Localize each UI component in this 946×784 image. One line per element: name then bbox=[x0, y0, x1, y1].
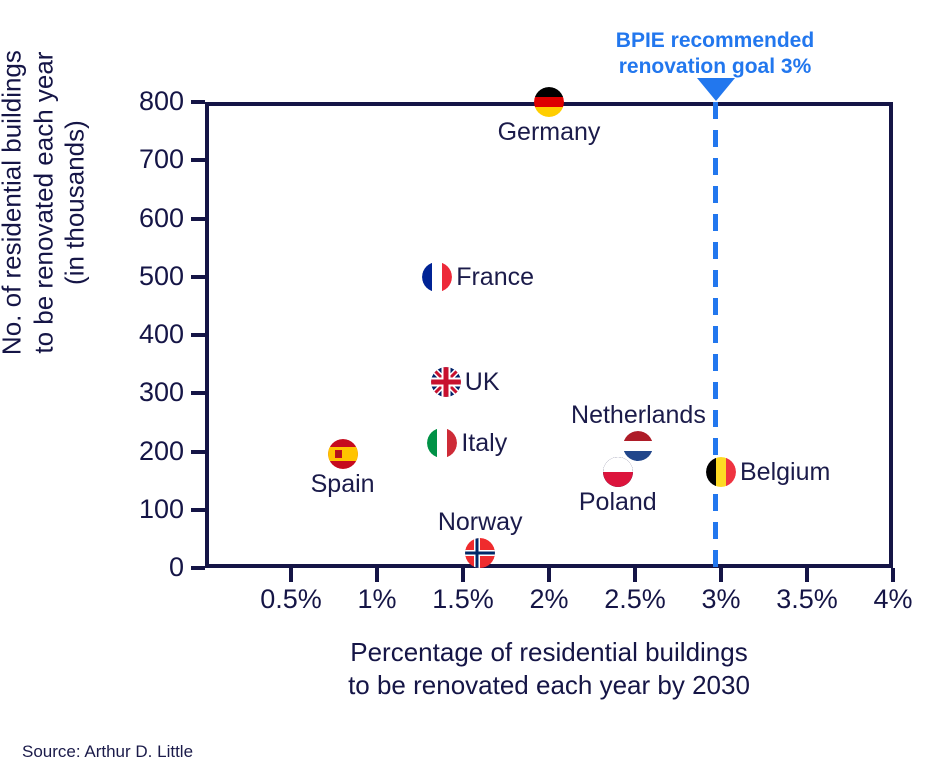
y-axis-tick-label: 800 bbox=[139, 88, 184, 115]
flag-nl-icon bbox=[623, 431, 653, 461]
down-triangle-icon bbox=[697, 78, 735, 101]
bpie-annotation-line2: renovation goal 3% bbox=[560, 54, 870, 80]
data-point-label: Norway bbox=[438, 510, 523, 535]
flag-fr-icon bbox=[422, 262, 452, 292]
flag-de-icon bbox=[534, 87, 564, 117]
x-axis-tick bbox=[891, 568, 895, 582]
y-axis-tick-label: 0 bbox=[169, 554, 184, 581]
y-axis-tick-label: 100 bbox=[139, 496, 184, 523]
x-axis-title-line2: to be renovated each year by 2030 bbox=[205, 669, 893, 702]
y-axis-title: No. of residential buildings to be renov… bbox=[0, 0, 92, 413]
y-axis-tick bbox=[191, 391, 205, 395]
y-axis-tick-label: 600 bbox=[139, 205, 184, 232]
data-point-label: Netherlands bbox=[571, 403, 706, 428]
plot-area bbox=[205, 102, 893, 568]
flag-pl-icon bbox=[603, 457, 633, 487]
data-point-label: Belgium bbox=[740, 460, 830, 485]
y-axis-tick-label: 400 bbox=[139, 321, 184, 348]
data-point-label: Italy bbox=[461, 431, 507, 456]
y-axis-tick bbox=[191, 450, 205, 454]
bpie-goal-annotation: BPIE recommended renovation goal 3% bbox=[560, 28, 870, 81]
y-axis-tick bbox=[191, 100, 205, 104]
x-axis-tick bbox=[289, 568, 293, 582]
scatter-chart-figure: 8007006005004003002001000 0.5%1%1.5%2%2.… bbox=[0, 0, 946, 784]
data-point-label: Germany bbox=[498, 120, 601, 145]
data-point-label: UK bbox=[465, 370, 500, 395]
y-axis-tick-label: 700 bbox=[139, 146, 184, 173]
y-axis-title-line2: to be renovated each year bbox=[28, 0, 60, 413]
flag-gb-icon bbox=[431, 367, 461, 397]
y-axis-tick-label: 300 bbox=[139, 379, 184, 406]
y-axis-tick bbox=[191, 566, 205, 570]
x-axis-title-line1: Percentage of residential buildings bbox=[205, 636, 893, 669]
y-axis-tick-label: 500 bbox=[139, 263, 184, 290]
y-axis-title-line1: No. of residential buildings bbox=[0, 0, 28, 413]
x-axis-tick bbox=[375, 568, 379, 582]
data-point-label: France bbox=[456, 265, 534, 290]
y-axis-title-line3: (in thousands) bbox=[60, 0, 92, 413]
flag-es-icon bbox=[328, 439, 358, 469]
x-axis-tick bbox=[547, 568, 551, 582]
data-point-label: Spain bbox=[311, 472, 375, 497]
x-axis-tick-label: 4% bbox=[833, 586, 946, 613]
y-axis-tick bbox=[191, 217, 205, 221]
x-axis-tick bbox=[805, 568, 809, 582]
x-axis-tick bbox=[719, 568, 723, 582]
x-axis-tick bbox=[461, 568, 465, 582]
y-axis-tick bbox=[191, 508, 205, 512]
data-point-label: Poland bbox=[579, 490, 657, 515]
flag-be-icon bbox=[706, 457, 736, 487]
x-axis-tick bbox=[633, 568, 637, 582]
y-axis-tick bbox=[191, 333, 205, 337]
y-axis-tick-label: 200 bbox=[139, 438, 184, 465]
x-axis-title: Percentage of residential buildings to b… bbox=[205, 636, 893, 701]
flag-it-icon bbox=[427, 428, 457, 458]
goal-threshold-line bbox=[713, 102, 718, 572]
y-axis-tick bbox=[191, 158, 205, 162]
source-note: Source: Arthur D. Little bbox=[22, 742, 193, 762]
bpie-annotation-line1: BPIE recommended bbox=[560, 28, 870, 54]
y-axis-tick bbox=[191, 275, 205, 279]
